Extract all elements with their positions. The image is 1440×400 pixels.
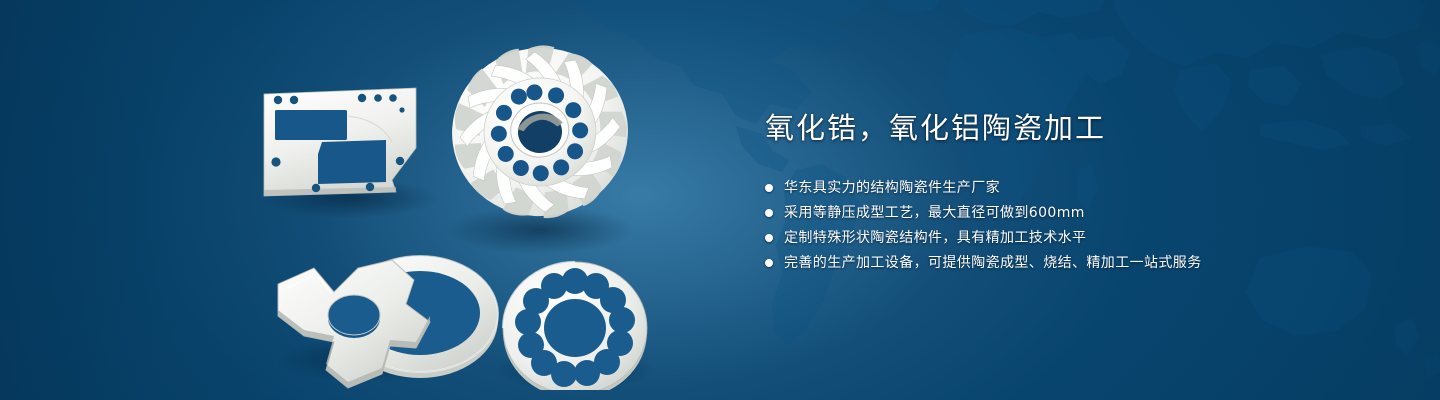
ceramic-products-image	[230, 30, 720, 390]
list-item: 定制特殊形状陶瓷结构件，具有精加工技术水平	[765, 225, 1385, 250]
feature-text: 采用等静压成型工艺，最大直径可做到600mm	[784, 203, 1085, 223]
feature-list: 华东具实力的结构陶瓷件生产厂家 采用等静压成型工艺，最大直径可做到600mm 定…	[765, 175, 1385, 275]
feature-text: 华东具实力的结构陶瓷件生产厂家	[784, 178, 1000, 198]
bullet-dot-icon	[765, 209, 773, 217]
list-item: 完善的生产加工设备，可提供陶瓷成型、烧结、精加工一站式服务	[765, 250, 1385, 275]
list-item: 华东具实力的结构陶瓷件生产厂家	[765, 175, 1385, 200]
bullet-dot-icon	[765, 234, 773, 242]
feature-text: 完善的生产加工设备，可提供陶瓷成型、烧结、精加工一站式服务	[784, 253, 1202, 273]
bullet-dot-icon	[765, 184, 773, 192]
feature-text: 定制特殊形状陶瓷结构件，具有精加工技术水平	[784, 228, 1086, 248]
list-item: 采用等静压成型工艺，最大直径可做到600mm	[765, 200, 1385, 225]
banner-headline: 氧化锆，氧化铝陶瓷加工	[765, 110, 1385, 146]
banner-copy: 氧化锆，氧化铝陶瓷加工 华东具实力的结构陶瓷件生产厂家 采用等静压成型工艺，最大…	[765, 110, 1385, 275]
bullet-dot-icon	[765, 259, 773, 267]
hero-banner: 氧化锆，氧化铝陶瓷加工 华东具实力的结构陶瓷件生产厂家 采用等静压成型工艺，最大…	[0, 0, 1440, 400]
